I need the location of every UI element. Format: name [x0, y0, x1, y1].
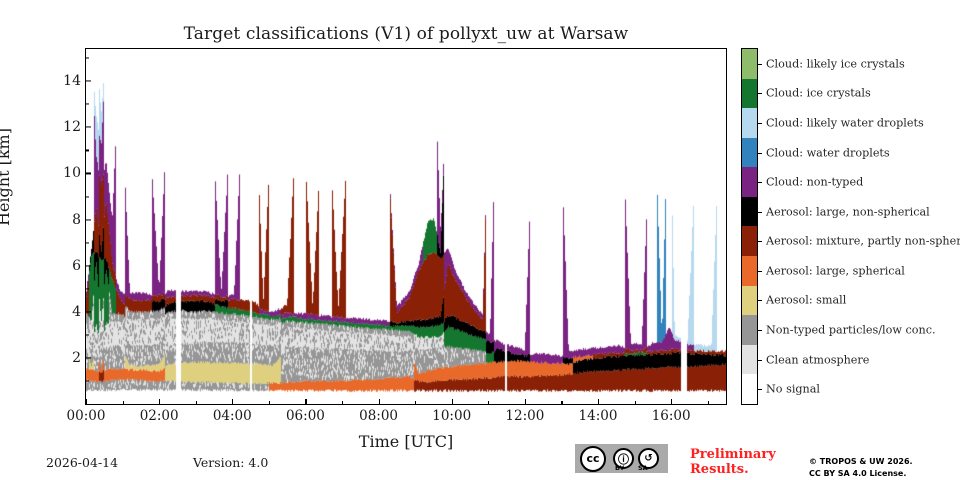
legend-tick — [757, 212, 762, 213]
footer-version: Version: 4.0 — [193, 455, 268, 470]
classification-heatmap[interactable] — [86, 49, 726, 404]
x-tick-mark — [86, 399, 87, 404]
legend-label: Cloud: ice crystals — [766, 88, 871, 99]
y-minor-tick — [86, 150, 89, 151]
legend-swatch[interactable] — [742, 286, 757, 316]
legend-swatch[interactable] — [742, 374, 757, 404]
y-tick-label: 12 — [63, 120, 81, 134]
legend-label: Cloud: water droplets — [766, 147, 890, 158]
legend-label: Aerosol: small — [766, 295, 846, 306]
y-tick-label: 10 — [63, 166, 81, 180]
x-minor-tick — [488, 401, 489, 404]
copyright-notice: © TROPOS & UW 2026. CC BY SA 4.0 License… — [809, 456, 913, 479]
legend-swatch[interactable] — [742, 167, 757, 197]
legend-tick — [757, 182, 762, 183]
cc-logo-icon: cc — [580, 446, 606, 472]
creative-commons-badge[interactable]: cc ⓘ ↺ BY SA — [575, 444, 668, 473]
y-minor-tick — [86, 380, 89, 381]
lidar-classification-figure: Target classifications (V1) of pollyxt_u… — [0, 0, 960, 480]
x-minor-tick — [561, 401, 562, 404]
legend-tick — [757, 330, 762, 331]
x-minor-tick — [415, 401, 416, 404]
legend-tick — [757, 241, 762, 242]
legend-label: Clean atmosphere — [766, 354, 869, 365]
y-minor-tick — [86, 58, 89, 59]
legend-label: Aerosol: large, non-spherical — [766, 206, 930, 217]
x-minor-tick — [123, 401, 124, 404]
preliminary-results-notice: Preliminary Results. — [690, 448, 800, 477]
legend-swatch[interactable] — [742, 49, 757, 79]
x-tick-label: 12:00 — [505, 410, 544, 424]
x-tick-mark — [452, 399, 453, 404]
y-minor-tick — [86, 242, 89, 243]
x-tick-label: 06:00 — [286, 410, 325, 424]
legend-label: Aerosol: large, spherical — [766, 265, 905, 276]
legend-tick — [757, 64, 762, 65]
x-tick-mark — [232, 399, 233, 404]
x-minor-tick — [196, 401, 197, 404]
cc-sa-label: SA — [638, 464, 648, 472]
x-tick-label: 08:00 — [359, 410, 398, 424]
legend-swatch[interactable] — [742, 108, 757, 138]
x-minor-tick — [635, 401, 636, 404]
footer-date: 2026-04-14 — [46, 455, 118, 470]
legend-swatch[interactable] — [742, 256, 757, 286]
y-minor-tick — [86, 334, 89, 335]
x-tick-label: 16:00 — [652, 410, 691, 424]
legend-swatch[interactable] — [742, 345, 757, 375]
y-tick-mark — [86, 173, 91, 174]
x-minor-tick — [708, 401, 709, 404]
y-minor-tick — [86, 288, 89, 289]
legend-label: Cloud: non-typed — [766, 177, 863, 188]
preliminary-line-1: Preliminary — [690, 448, 800, 463]
legend-label: Aerosol: mixture, partly non-spherical — [766, 236, 960, 247]
class-legend-colorbar[interactable]: Cloud: likely ice crystalsCloud: ice cry… — [741, 48, 758, 405]
legend-tick — [757, 389, 762, 390]
plot-area[interactable]: 2468101214 00:0002:0004:0006:0008:0010:0… — [85, 48, 727, 405]
y-tick-mark — [86, 357, 91, 358]
legend-tick — [757, 360, 762, 361]
y-tick-label: 4 — [72, 305, 81, 319]
legend-tick — [757, 271, 762, 272]
page-title: Target classifications (V1) of pollyxt_u… — [85, 24, 727, 44]
legend-swatch[interactable] — [742, 197, 757, 227]
x-tick-mark — [671, 399, 672, 404]
legend-label: Cloud: likely ice crystals — [766, 58, 905, 69]
y-tick-label: 6 — [72, 259, 81, 273]
y-axis-label: Height [km] — [0, 128, 13, 226]
legend-swatch[interactable] — [742, 315, 757, 345]
legend-label: Cloud: likely water droplets — [766, 117, 924, 128]
x-tick-mark — [525, 399, 526, 404]
x-minor-tick — [342, 401, 343, 404]
y-tick-mark — [86, 265, 91, 266]
cc-by-label: BY — [615, 464, 624, 472]
legend-swatch[interactable] — [742, 138, 757, 168]
legend-label: Non-typed particles/low conc. — [766, 324, 936, 335]
copyright-line-2: CC BY SA 4.0 License. — [809, 468, 913, 480]
y-tick-label: 14 — [63, 74, 81, 88]
x-tick-label: 02:00 — [140, 410, 179, 424]
y-tick-label: 8 — [72, 213, 81, 227]
legend-tick — [757, 153, 762, 154]
legend-swatch[interactable] — [742, 79, 757, 109]
y-tick-mark — [86, 219, 91, 220]
legend-tick — [757, 123, 762, 124]
y-minor-tick — [86, 196, 89, 197]
x-tick-label: 10:00 — [432, 410, 471, 424]
x-minor-tick — [269, 401, 270, 404]
y-tick-label: 2 — [72, 351, 81, 365]
legend-label: No signal — [766, 384, 820, 395]
y-tick-mark — [86, 127, 91, 128]
x-tick-mark — [305, 399, 306, 404]
y-minor-tick — [86, 104, 89, 105]
y-tick-mark — [86, 311, 91, 312]
x-tick-mark — [379, 399, 380, 404]
legend-tick — [757, 93, 762, 94]
x-tick-label: 14:00 — [579, 410, 618, 424]
legend-tick — [757, 300, 762, 301]
x-tick-label: 00:00 — [67, 410, 106, 424]
copyright-line-1: © TROPOS & UW 2026. — [809, 456, 913, 468]
x-tick-mark — [598, 399, 599, 404]
x-tick-mark — [159, 399, 160, 404]
preliminary-line-2: Results. — [690, 463, 800, 478]
legend-swatch[interactable] — [742, 226, 757, 256]
y-tick-mark — [86, 81, 91, 82]
x-tick-label: 04:00 — [213, 410, 252, 424]
